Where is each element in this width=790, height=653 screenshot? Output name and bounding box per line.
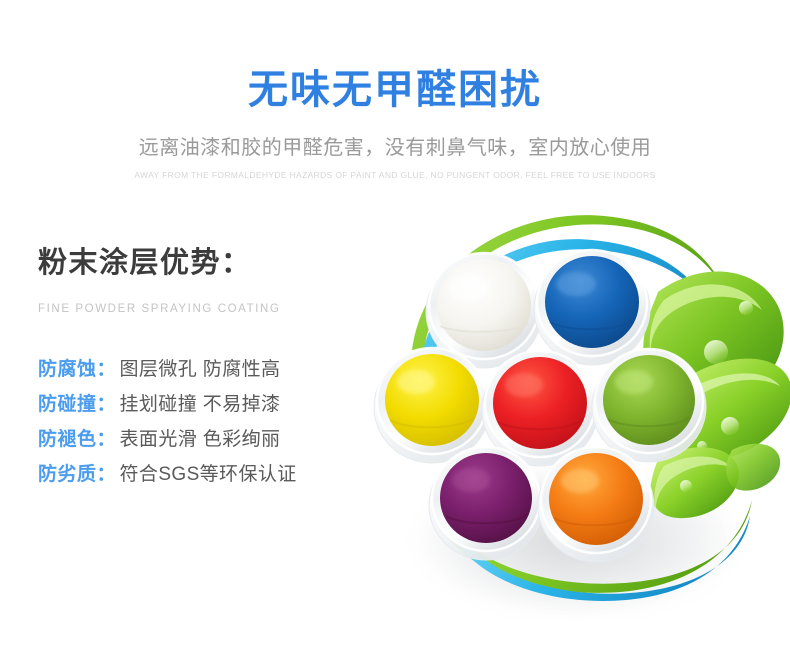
product-image (372, 200, 790, 620)
powder-surface (437, 259, 531, 351)
feature-colon: ： (97, 357, 120, 383)
section-title: 粉末涂层优势： (38, 244, 368, 282)
powder-surface (545, 256, 639, 348)
feature-row: 防碰撞 ： 挂划碰撞 不易掉漆 (38, 392, 378, 427)
water-droplet (721, 417, 739, 435)
powder-surface (603, 355, 695, 445)
powder-surface (440, 453, 532, 543)
feature-description: 挂划碰撞 不易掉漆 (120, 392, 281, 418)
page-subheadline: 远离油漆和胶的甲醛危害，没有刺鼻气味，室内放心使用 (0, 134, 790, 162)
powder-surface (385, 354, 479, 446)
leaf-icon (726, 444, 780, 491)
feature-row: 防腐蚀 ： 图层微孔 防腐性高 (38, 357, 378, 392)
water-droplet (739, 301, 753, 315)
feature-colon: ： (97, 462, 120, 488)
section-subtitle-english: FINE POWDER SPRAYING COATING (38, 282, 368, 317)
purple-powder-jar (429, 447, 543, 560)
powder-surface (549, 453, 643, 545)
feature-description: 图层微孔 防腐性高 (120, 357, 281, 383)
water-droplet (704, 340, 728, 364)
feature-list: 防腐蚀 ： 图层微孔 防腐性高 防碰撞 ： 挂划碰撞 不易掉漆 防褪色 ： 表面… (38, 357, 378, 497)
green-powder-jar (592, 349, 706, 462)
feature-description: 符合SGS等环保认证 (120, 462, 297, 488)
feature-label: 防劣质 (38, 462, 97, 488)
yellow-powder-jar (374, 348, 490, 463)
orange-powder-jar (538, 447, 654, 562)
blue-powder-jar (534, 250, 650, 365)
feature-label: 防碰撞 (38, 392, 97, 418)
feature-row: 防劣质 ： 符合SGS等环保认证 (38, 462, 378, 497)
feature-colon: ： (97, 427, 120, 453)
advantages-heading-block: 粉末涂层优势： FINE POWDER SPRAYING COATING (38, 244, 368, 317)
feature-label: 防腐蚀 (38, 357, 97, 383)
feature-colon: ： (97, 392, 120, 418)
water-droplet (680, 480, 692, 492)
promo-page: 无味无甲醛困扰 远离油漆和胶的甲醛危害，没有刺鼻气味，室内放心使用 AWAY F… (0, 0, 790, 653)
feature-label: 防褪色 (38, 427, 97, 453)
page-headline: 无味无甲醛困扰 (0, 66, 790, 114)
feature-description: 表面光滑 色彩绚丽 (120, 427, 281, 453)
page-subheadline-english: AWAY FROM THE FORMALDEHYDE HAZARDS OF PA… (0, 169, 790, 181)
feature-row: 防褪色 ： 表面光滑 色彩绚丽 (38, 427, 378, 462)
powder-surface (493, 357, 587, 449)
